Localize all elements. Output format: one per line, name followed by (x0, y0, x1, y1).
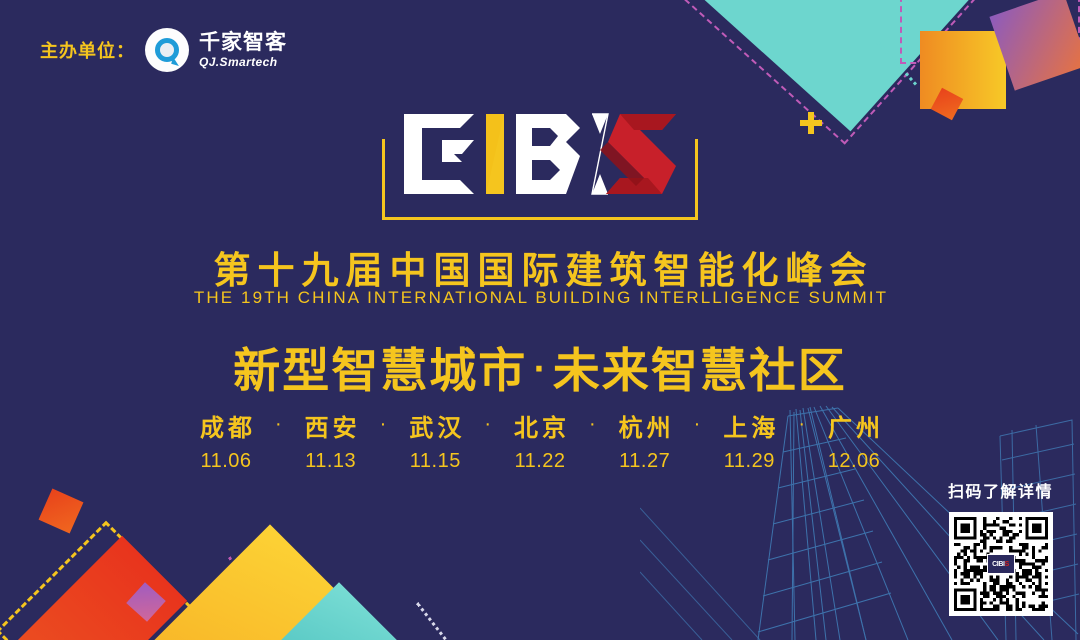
tour-stop-city: 广州 (824, 408, 884, 443)
cibis-wordmark (390, 110, 690, 202)
tour-stop: 杭州11.27 (596, 408, 694, 473)
qr-center-logo-main: CIBI (992, 561, 1004, 568)
qj-smartech-logo-icon (145, 28, 189, 72)
brand-lockup (0, 108, 1080, 220)
tour-stop: 西安11.13 (282, 408, 380, 473)
tour-stop: 成都11.06 (177, 408, 275, 473)
tour-stop: 广州12.06 (805, 408, 903, 473)
poster-canvas: 主办单位： 千家智客 QJ.Smartech (0, 0, 1080, 640)
purple-orange-gradient-square-decor (989, 0, 1080, 91)
tour-stop-separator: · (694, 408, 701, 438)
tour-stop-list: 成都11.06·西安11.13·武汉11.15·北京11.22·杭州11.27·… (0, 408, 1080, 473)
orange-gradient-rectangle-decor (920, 31, 1006, 109)
organizer-name-en: QJ.Smartech (199, 56, 287, 68)
qr-caption: 扫码了解详情 (948, 478, 1053, 502)
tour-stop-separator: · (798, 408, 805, 438)
tour-stop: 北京11.22 (491, 408, 589, 473)
tour-stop-city: 西安 (301, 408, 361, 443)
red-mini-square-left-decor (39, 489, 84, 534)
slogan-right: 未来智慧社区 (553, 344, 847, 399)
tour-stop-date: 11.13 (305, 450, 356, 473)
tour-stop-date: 11.06 (200, 450, 251, 473)
tour-stop: 武汉11.15 (386, 408, 484, 473)
slogan-left: 新型智慧城市 (233, 344, 527, 399)
tour-stop-date: 11.15 (410, 450, 461, 473)
tour-stop-separator: · (380, 408, 387, 438)
tour-stop-city: 成都 (196, 408, 256, 443)
organizer-name-cn: 千家智客 (199, 32, 287, 53)
slogan-separator: · (527, 352, 552, 387)
cibis-logo-icon (400, 110, 680, 202)
tour-stop-city: 杭州 (615, 408, 675, 443)
magenta-dotted-line-decor (228, 555, 303, 640)
tour-stop-city: 北京 (510, 408, 570, 443)
tour-stop-date: 11.29 (724, 450, 775, 473)
tour-stop-separator: · (484, 408, 491, 438)
tour-stop-date: 11.22 (514, 450, 565, 473)
bracket-bottom-decor (422, 217, 658, 220)
tour-stop-date: 12.06 (828, 450, 881, 473)
red-orange-bar-decor (0, 536, 187, 640)
organizer-logo-text: 千家智客 QJ.Smartech (199, 32, 287, 68)
white-dotted-line-decor (416, 601, 461, 640)
teal-small-square-decor (278, 582, 400, 640)
tour-stop-city: 上海 (719, 408, 779, 443)
summit-slogan: 新型智慧城市·未来智慧社区 (0, 332, 1080, 401)
summit-title-cn: 第十九届中国国际建筑智能化峰会 (0, 240, 1080, 294)
organizer-block: 主办单位： 千家智客 QJ.Smartech (40, 28, 287, 72)
tour-stop-separator: · (275, 408, 282, 438)
qr-center-logo-accent: S (1005, 561, 1009, 568)
qr-code-icon[interactable]: CIBIS (949, 512, 1053, 616)
tour-stop-date: 11.27 (619, 450, 670, 473)
cyan-dotted-line-decor (872, 35, 919, 86)
yellow-large-square-decor (131, 524, 408, 640)
magenta-dashed-rectangle-decor (900, 0, 1080, 64)
organizer-label: 主办单位： (40, 37, 135, 63)
tour-stop: 上海11.29 (700, 408, 798, 473)
qr-block: 扫码了解详情 CIBIS (948, 478, 1053, 616)
purple-mini-square-decor (126, 582, 166, 622)
tour-stop-separator: · (589, 408, 596, 438)
qr-center-logo: CIBIS (987, 554, 1015, 574)
tour-stop-city: 武汉 (405, 408, 465, 443)
summit-title-en: THE 19TH CHINA INTERNATIONAL BUILDING IN… (0, 288, 1080, 308)
yellow-dashed-square-decor (0, 521, 216, 640)
